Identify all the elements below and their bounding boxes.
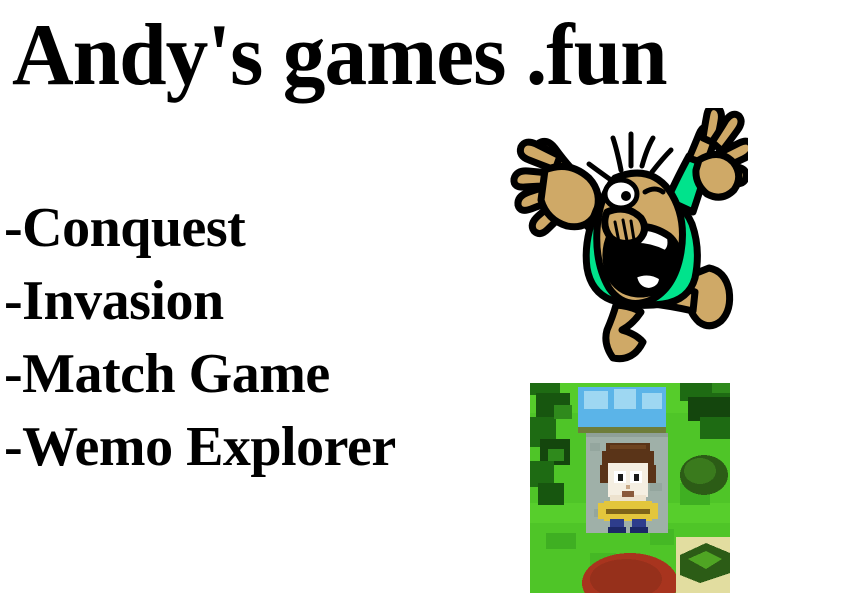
left-leg xyxy=(606,305,643,359)
game-screenshot-icon xyxy=(530,383,730,593)
stone-speck-2 xyxy=(650,483,662,491)
character-pupil-right xyxy=(634,474,639,481)
water-highlight-2 xyxy=(614,389,636,409)
character-shirt-band xyxy=(606,509,650,514)
list-item[interactable]: -Match Game xyxy=(4,338,504,411)
cheering-man-icon xyxy=(503,108,748,363)
character-arm-left xyxy=(598,503,606,519)
tongue xyxy=(635,273,661,290)
eye-pupil xyxy=(621,191,631,201)
list-item[interactable]: -Conquest xyxy=(4,192,504,265)
page-title: Andy's games .fun xyxy=(12,10,817,102)
game-screenshot-thumbnail[interactable] xyxy=(530,383,730,593)
water-highlight-3 xyxy=(642,393,662,409)
game-list: -Conquest -Invasion -Match Game -Wemo Ex… xyxy=(4,192,504,484)
right-palm xyxy=(696,154,739,197)
cheering-man-image xyxy=(503,108,748,363)
character-nose xyxy=(626,485,630,489)
water-highlight-1 xyxy=(584,391,608,409)
eye-white xyxy=(605,180,637,208)
character-arm-right xyxy=(650,503,658,519)
page-root: Andy's games .fun -Conquest -Invasion -M… xyxy=(0,0,852,593)
list-item[interactable]: -Invasion xyxy=(4,265,504,338)
water-bank xyxy=(578,427,666,433)
character-hair-shine xyxy=(610,445,646,449)
character-shoe-left xyxy=(608,527,626,533)
character-pupil-left xyxy=(618,474,623,481)
bush-right-light xyxy=(684,458,716,484)
stone-speck-1 xyxy=(590,443,600,451)
character-shoe-right xyxy=(630,527,648,533)
stone-path-edge xyxy=(586,433,668,437)
list-item[interactable]: -Wemo Explorer xyxy=(4,411,504,484)
character-mouth xyxy=(622,491,634,497)
